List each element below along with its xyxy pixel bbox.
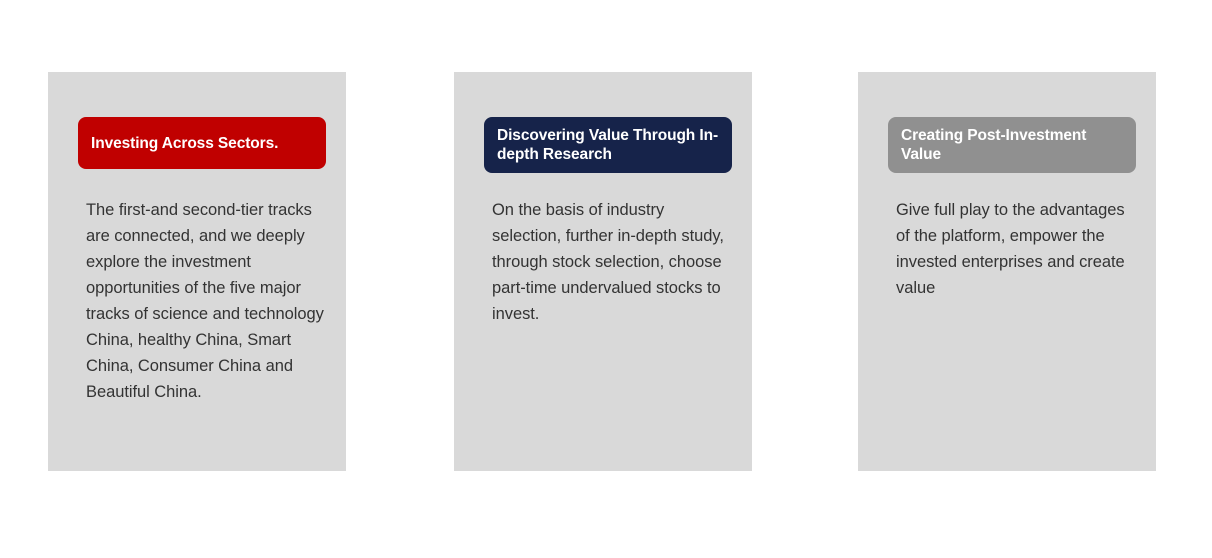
card-badge-heading: Investing Across Sectors. bbox=[78, 117, 326, 169]
card-body-text: Give full play to the advantages of the … bbox=[896, 197, 1138, 301]
info-card: Investing Across Sectors. The first-and … bbox=[48, 72, 346, 471]
cards-stage: Investing Across Sectors. The first-and … bbox=[0, 0, 1212, 558]
info-card: Creating Post-Investment Value Give full… bbox=[858, 72, 1156, 471]
info-card: Discovering Value Through In-depth Resea… bbox=[454, 72, 752, 471]
card-badge-heading: Creating Post-Investment Value bbox=[888, 117, 1136, 173]
card-body-text: The first-and second-tier tracks are con… bbox=[86, 197, 328, 405]
card-badge-heading: Discovering Value Through In-depth Resea… bbox=[484, 117, 732, 173]
card-body-text: On the basis of industry selection, furt… bbox=[492, 197, 734, 327]
